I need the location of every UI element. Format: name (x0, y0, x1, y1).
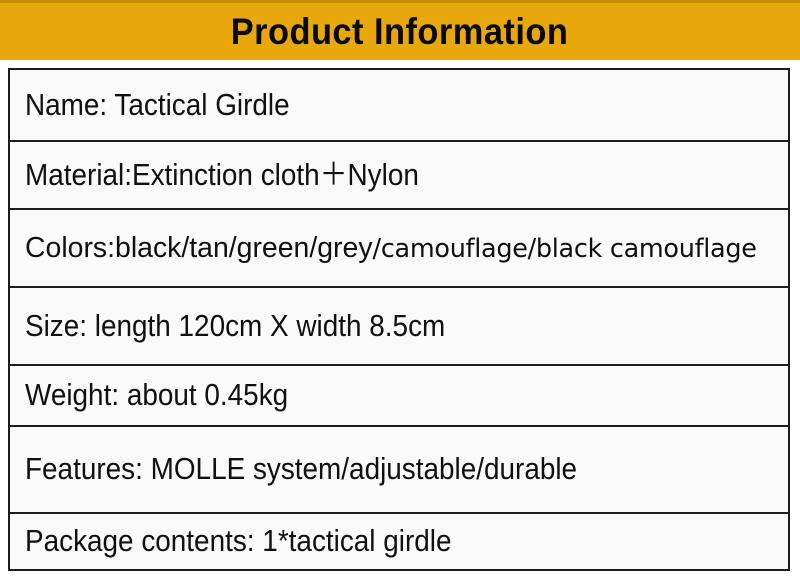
spec-value-material: Material:Extinction cloth＋Nylon (25, 159, 419, 192)
spec-value-colors-tail: /camouflage/black camouflage (373, 234, 757, 264)
table-row-weight: Weight: about 0.45kg (10, 366, 788, 427)
spec-value-features: Features: MOLLE system/adjustable/durabl… (25, 453, 577, 486)
spec-value-size: Size: length 120cm X width 8.5cm (25, 310, 445, 343)
table-row-features: Features: MOLLE system/adjustable/durabl… (10, 427, 788, 514)
table-row-package-contents: Package contents: 1*tactical girdle (10, 514, 788, 569)
spec-value-colors-head: Colors:black/tan/green/grey (25, 232, 373, 264)
page-title: Product Information (231, 13, 569, 50)
product-information-card: Product Information DEMEYSIS Name: Tacti… (0, 0, 800, 581)
table-row-colors: Colors:black/tan/green/grey/camouflage/b… (10, 210, 788, 288)
product-information-banner: Product Information (0, 0, 800, 60)
specification-table: Name: Tactical Girdle Material:Extinctio… (8, 68, 790, 571)
spec-value-colors: Colors:black/tan/green/grey/camouflage/b… (25, 233, 757, 263)
spec-value-package-contents: Package contents: 1*tactical girdle (25, 525, 452, 558)
spec-value-name: Name: Tactical Girdle (25, 89, 290, 122)
spec-value-weight: Weight: about 0.45kg (25, 379, 288, 412)
table-row-name: Name: Tactical Girdle (10, 70, 788, 142)
table-row-size: Size: length 120cm X width 8.5cm (10, 288, 788, 366)
table-row-material: Material:Extinction cloth＋Nylon (10, 142, 788, 210)
